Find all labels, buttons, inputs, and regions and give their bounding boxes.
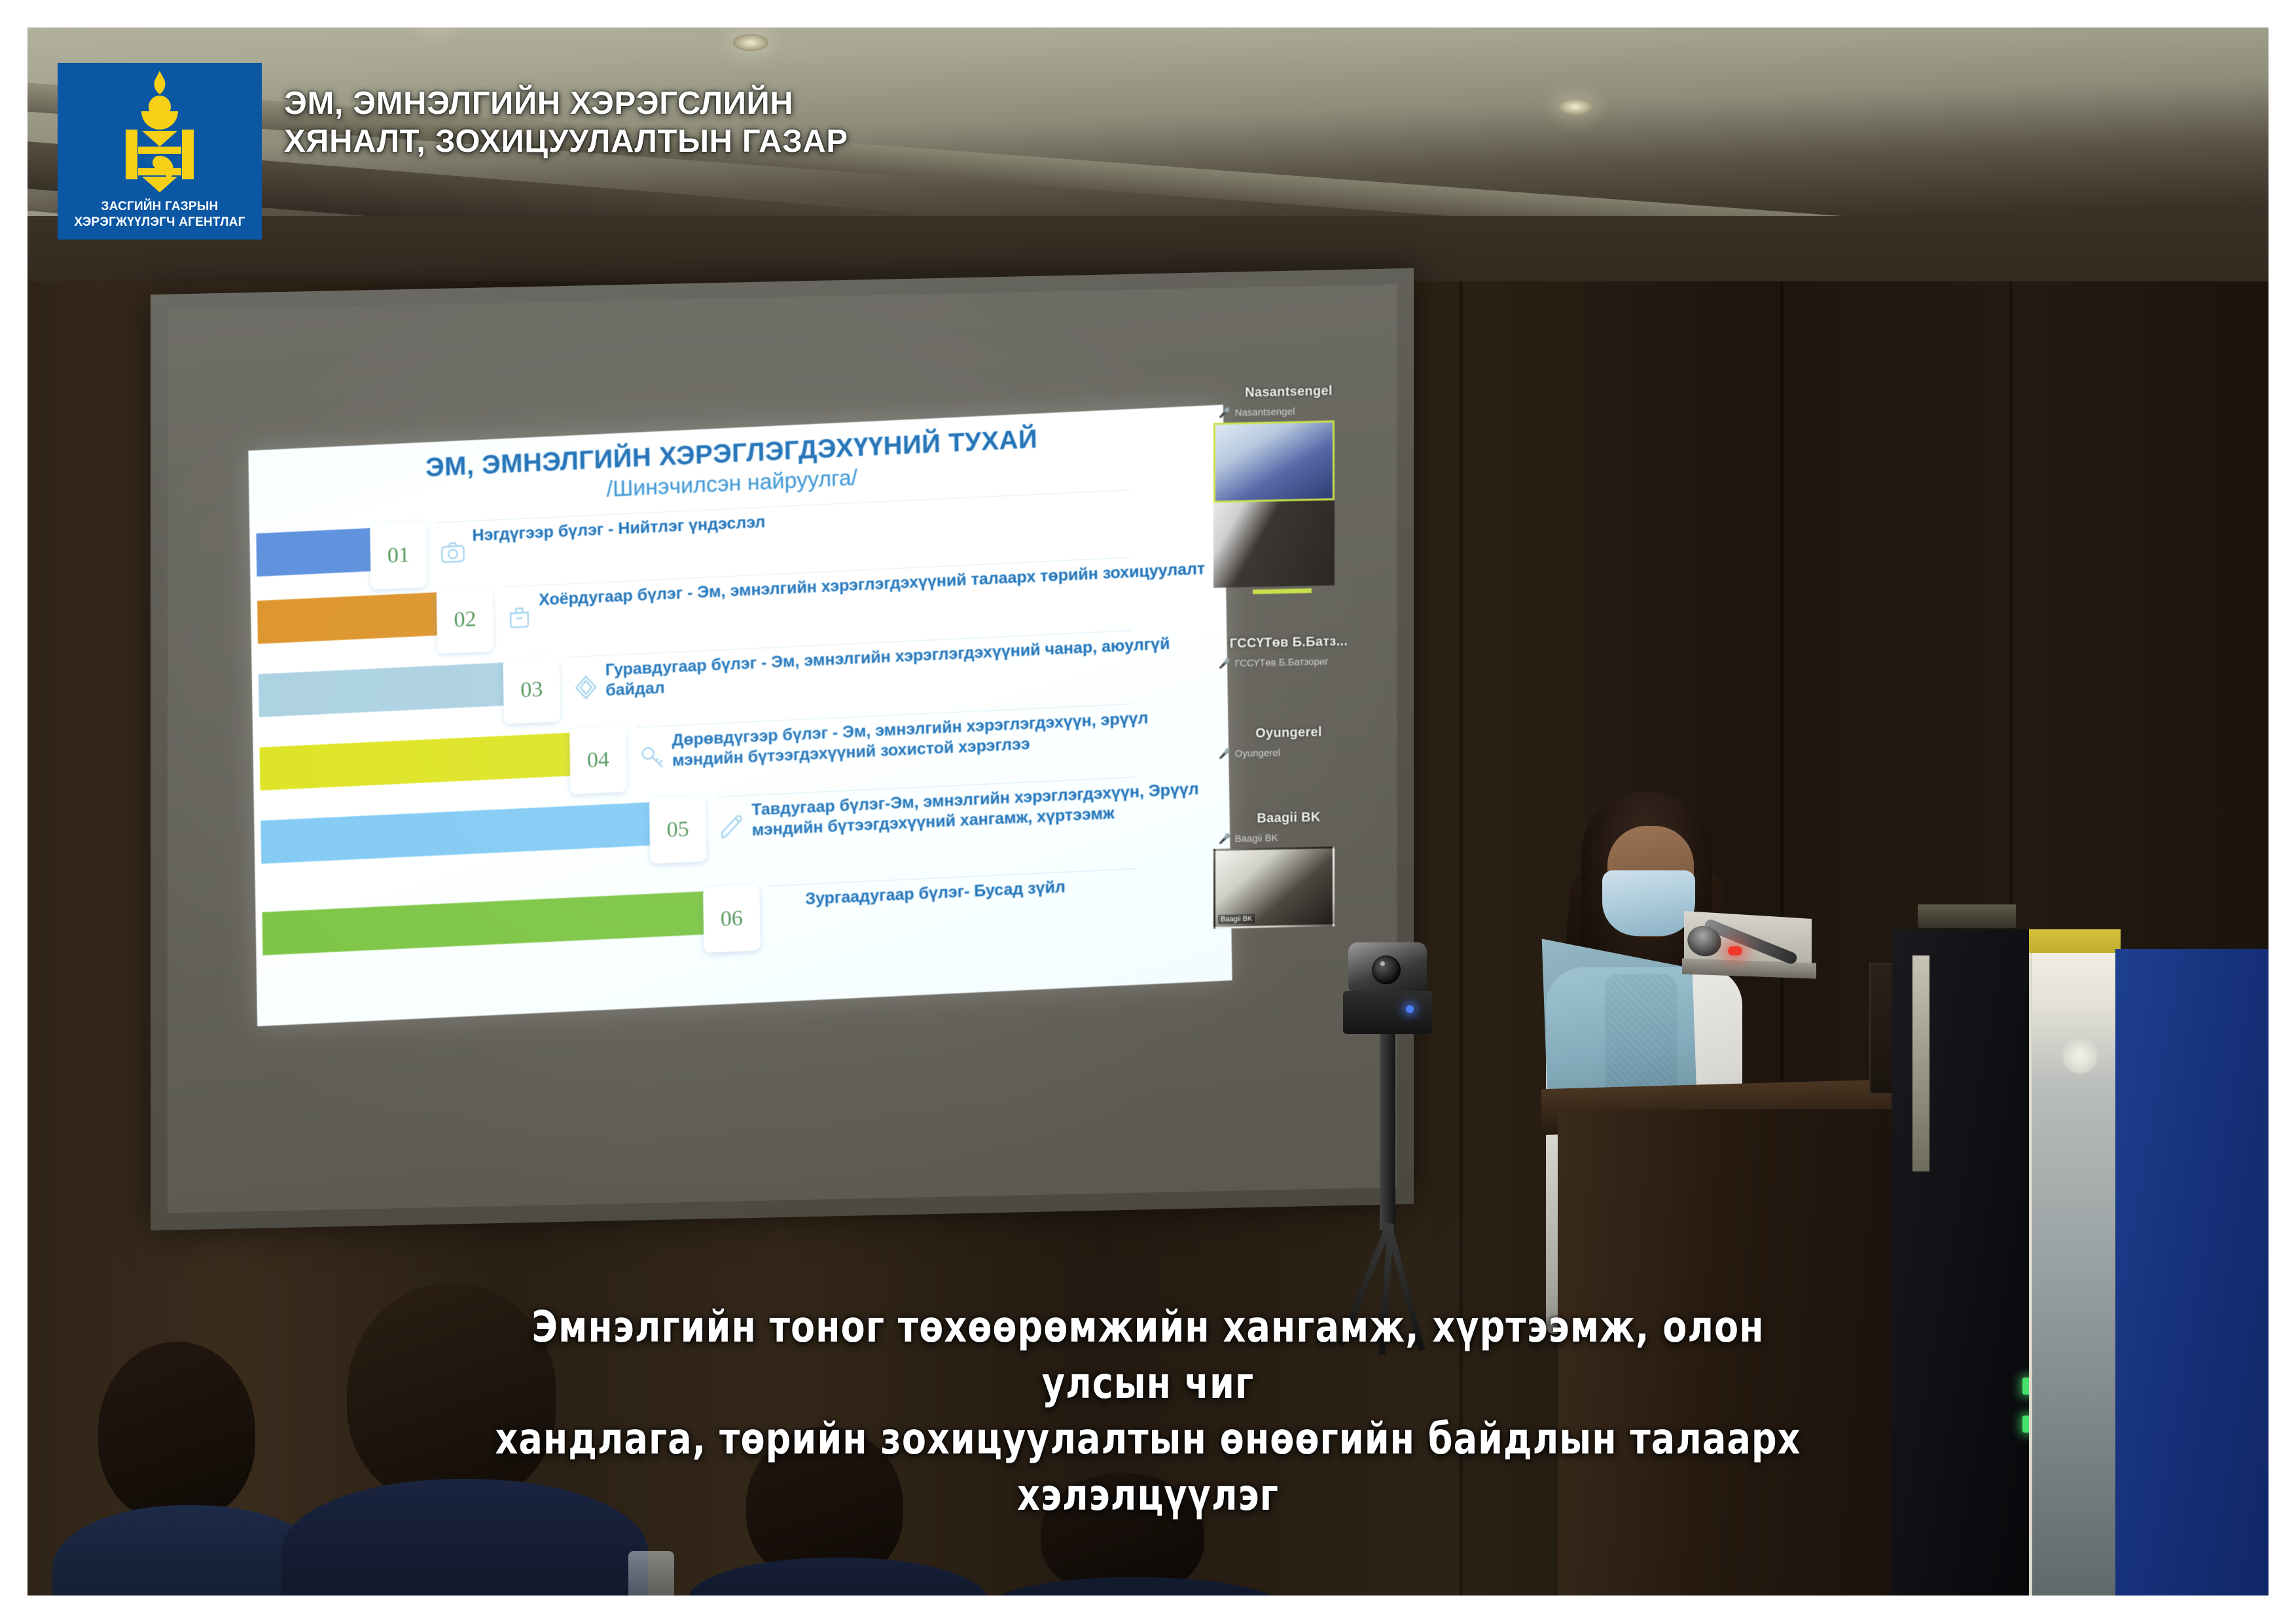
vc-participant-tile[interactable]: Nasantsengel🎤Nasantsengel [1207,383,1371,595]
vc-participant-label: Nasantsengel [1235,406,1295,418]
mic-muted-icon: 🎤 [1219,658,1231,669]
vc-participant-video-thumbnail[interactable] [1213,500,1335,588]
soyombo-pillar-icon [182,130,194,179]
chapter-number-badge: 06 [703,885,761,953]
soyombo-triangle-top-icon [142,131,177,147]
chapter-number-badge: 05 [649,796,707,864]
rack-top-unit [1918,904,2016,928]
ceiling-downlight [733,34,768,51]
bottle-body [628,1551,674,1623]
face-mask [1602,870,1695,936]
vc-participant-name: Nasantsengel [1207,383,1371,401]
logo-caption-line1: ЗАСГИЙН ГАЗРЫН [74,199,245,215]
mic-muted-icon: 🎤 [1219,748,1231,760]
vc-thumbnail-label: Baagii BK [1218,914,1255,924]
mic-muted-icon: 🎤 [1219,833,1231,845]
vc-participant-name: Oyungerel [1207,724,1371,742]
audience-shoulders [687,1558,988,1623]
mic-muted-icon: 🎤 [1219,407,1231,419]
vc-participant-tile[interactable]: ГССҮТөв Б.Батз...🎤ГССҮТөв Б.Батзориг [1207,633,1371,669]
soyombo-moon-icon [141,111,178,130]
box-icon [506,604,533,632]
blue-banner [2115,949,2296,1623]
ceiling-downlight [1558,98,1593,115]
agency-logo: ЗАСГИЙН ГАЗРЫН ХЭРЭГЖҮҮЛЭГЧ АГЕНТЛАГ [58,63,262,240]
vc-participant-label-row: 🎤Baagii BK [1219,830,1371,845]
scroll-painting [2029,953,2121,1623]
rack-light-strip [1912,955,1929,1171]
camera-status-led [1406,1005,1414,1013]
photo-caption: Эмнэлгийн тоног төхөөрөмжийн хангамж, хү… [330,1299,1966,1524]
chapter-color-bar [257,592,454,644]
chapter-number-badge: 02 [437,586,494,654]
vc-participant-label-row: 🎤ГССҮТөв Б.Батзориг [1219,654,1371,669]
diamond-icon [573,674,600,702]
soyombo-pillar-icon [126,130,137,179]
video-conference-participant-list: Nasantsengel🎤NasantsengelГССҮТөв Б.Батз.… [1207,383,1371,975]
water-bottle [609,1544,713,1623]
vc-participant-label: Oyungerel [1235,747,1280,759]
vc-participant-video-thumbnail[interactable]: Baagii BK [1213,846,1335,929]
vc-participant-name: ГССҮТөв Б.Батз... [1207,633,1371,652]
vc-participant-tile[interactable]: Oyungerel🎤Oyungerel [1207,724,1371,760]
chapter-number-badge: 01 [370,522,427,590]
camera-body [1343,991,1432,1034]
vc-participant-video-thumbnail[interactable] [1213,420,1335,503]
chapter-color-bar [259,732,587,791]
projection-surface: ЭМ, ЭМНЭЛГИЙН ХЭРЭГЛЭГДЭХҮҮНИЙ ТУХАЙ /Ши… [168,284,1397,1213]
projection-screen: ЭМ, ЭМНЭЛГИЙН ХЭРЭГЛЭГДЭХҮҮНИЙ ТУХАЙ /Ши… [151,268,1414,1230]
header-overlay: ЗАСГИЙН ГАЗРЫН ХЭРЭГЖҮҮЛЭГЧ АГЕНТЛАГ ЭМ,… [58,63,848,240]
projected-slide: ЭМ, ЭМНЭЛГИЙН ХЭРЭГЛЭГДЭХҮҮНИЙ ТУХАЙ /Ши… [248,404,1232,1026]
soyombo-icon [123,71,196,192]
scroll-moon [2062,1038,2098,1073]
chapter-color-bar [256,527,387,577]
key-icon [639,744,666,772]
audience-shoulders [982,1577,1289,1623]
chapter-number-badge: 04 [569,726,627,794]
logo-caption-line2: ХЭРЭГЖҮҮЛЭГЧ АГЕНТЛАГ [74,215,245,230]
org-title-line2: ХЯНАЛТ, ЗОХИЦУУЛАЛТЫН ГАЗАР [284,123,848,161]
chapter-color-bar [259,662,521,718]
audience-head [98,1342,255,1522]
pen-icon [719,813,745,841]
soyombo-bar-icon [138,147,181,154]
caption-line1: Эмнэлгийн тоног төхөөрөмжийн хангамж, хү… [477,1299,1819,1412]
caption-line2: хандлага, төрийн зохицуулалтын өнөөгийн … [477,1411,1819,1524]
vc-participant-label: Baagii BK [1235,832,1278,844]
organization-title: ЭМ, ЭМНЭЛГИЙН ХЭРЭГСЛИЙН ХЯНАЛТ, ЗОХИЦУУ… [284,85,848,161]
vc-participant-label-row: 🎤Oyungerel [1219,745,1371,760]
vc-participant-label: ГССҮТөв Б.Батзориг [1235,656,1329,669]
vc-participant-label-row: 🎤Nasantsengel [1219,404,1371,419]
chapter-number-badge: 03 [503,656,560,724]
microphone-led [1728,946,1742,955]
soyombo-flame-icon [151,71,168,94]
ptz-camera-tripod [1309,942,1479,1348]
vc-participant-name: Baagii BK [1207,809,1371,827]
camera-lens-icon [1372,955,1401,984]
logo-caption: ЗАСГИЙН ГАЗРЫН ХЭРЭГЖҮҮЛЭГЧ АГЕНТЛАГ [74,199,245,230]
camera-head [1348,942,1427,995]
slide-chapter-list: 01Нэгдүгээр бүлэг - Нийтлэг үндэслэл02Хо… [256,485,1215,971]
tripod-column [1380,1034,1395,1230]
vc-participant-tile[interactable]: Baagii BK🎤Baagii BKBaagii BK [1207,809,1371,929]
vc-active-speaker-indicator [1253,588,1312,594]
camera-icon [440,539,467,567]
soyombo-bar-icon [138,168,181,175]
soyombo-triangle-bottom-icon [142,177,177,192]
org-title-line1: ЭМ, ЭМНЭЛГИЙН ХЭРЭГСЛИЙН [284,85,848,123]
ceiling-downlight [419,9,454,26]
